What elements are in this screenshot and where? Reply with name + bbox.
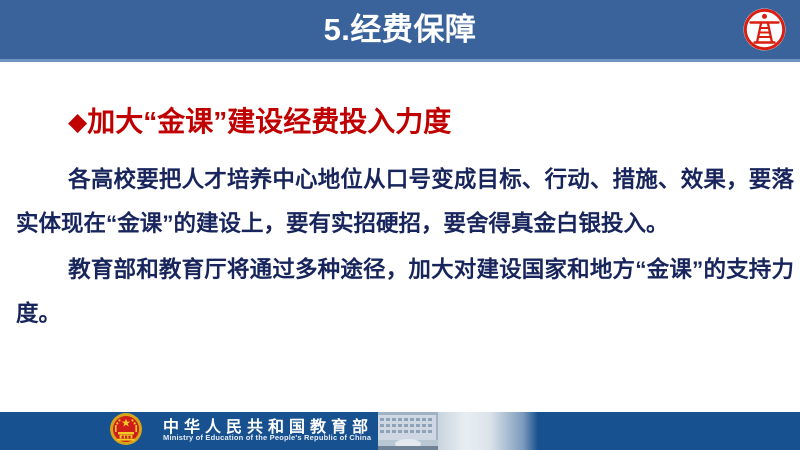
section-heading-label: 加大“金课”建设经费投入力度 xyxy=(87,106,451,137)
slide-header-bar: 5.经费保障 xyxy=(0,0,800,62)
body-paragraphs: 各高校要把人才培养中心地位从口号变成目标、行动、措施、效果，要落实体现在“金课”… xyxy=(16,158,794,336)
section-heading: ◆加大“金课”建设经费投入力度 xyxy=(68,100,451,140)
china-national-emblem-icon xyxy=(108,411,144,447)
paragraph-1: 各高校要把人才培养中心地位从口号变成目标、行动、措施、效果，要落实体现在“金课”… xyxy=(16,158,794,246)
paragraph-1-text: 各高校要把人才培养中心地位从口号变成目标、行动、措施、效果，要落实体现在“金课”… xyxy=(16,167,794,236)
slide-content: ◆加大“金课”建设经费投入力度 各高校要把人才培养中心地位从口号变成目标、行动、… xyxy=(0,62,800,412)
paragraph-2: 教育部和教育厅将通过多种途径，加大对建设国家和地方“金课”的支持力度。 xyxy=(16,248,794,336)
paragraph-2-text: 教育部和教育厅将通过多种途径，加大对建设国家和地方“金课”的支持力度。 xyxy=(16,257,794,326)
university-tower-emblem-icon xyxy=(742,7,787,52)
government-building-photo xyxy=(378,412,440,450)
presentation-slide: 5.经费保障 ◆加大“金课”建设经费投入力度 各高校要把人才培养中心地位从口号变… xyxy=(0,0,800,450)
footer-organization-en: Ministry of Education of the People's Re… xyxy=(163,433,371,442)
diamond-bullet-icon: ◆ xyxy=(68,110,87,135)
footer-gradient-divider xyxy=(438,412,538,450)
page-title: 5.经费保障 xyxy=(0,0,800,59)
